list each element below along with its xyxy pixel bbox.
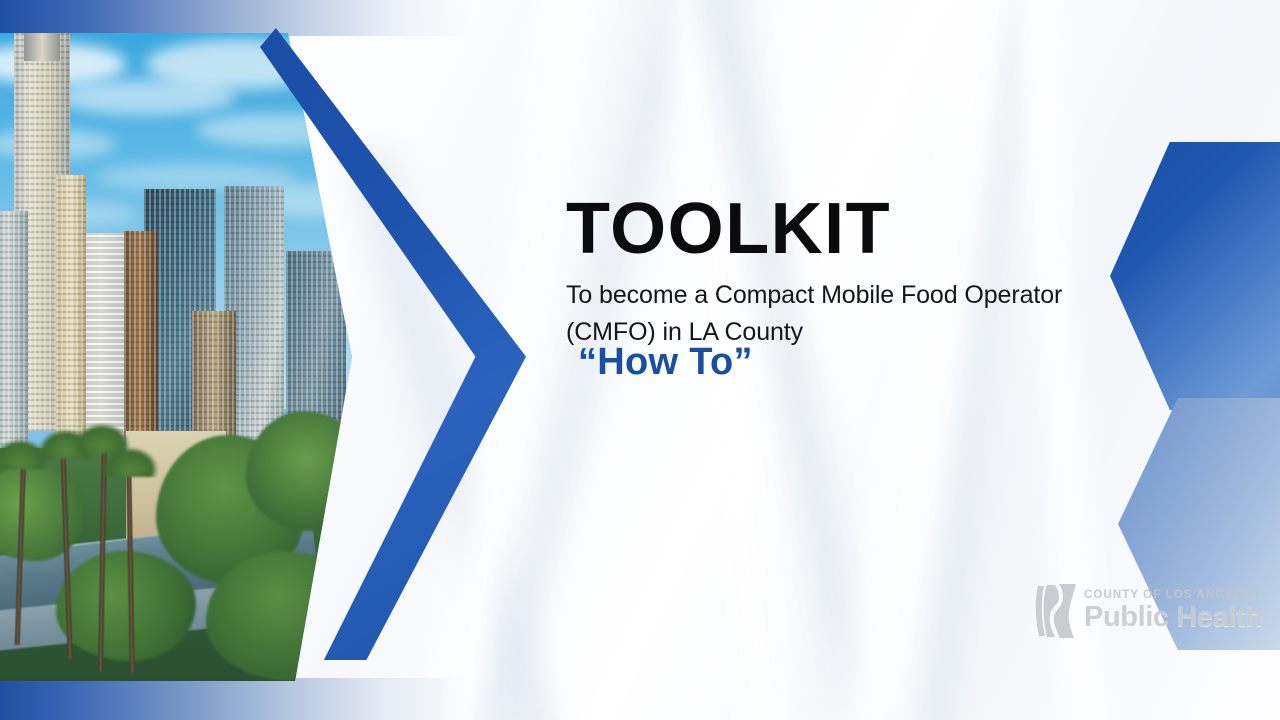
top-accent-band [0, 0, 470, 36]
logo-wordmark: County of Los Angeles Public Health [1084, 590, 1263, 633]
slide-subtitle: To become a Compact Mobile Food Operator… [566, 277, 1066, 351]
bottom-accent-band [0, 678, 470, 720]
logo-county-line: County of Los Angeles [1084, 590, 1263, 602]
page-title: TOOLKIT [566, 193, 1106, 265]
accent-phrase: “How To” [578, 341, 753, 384]
skyline-photo-image [0, 33, 352, 681]
public-health-logo: County of Los Angeles Public Health [1034, 580, 1262, 642]
slide-text-block: TOOLKIT To become a Compact Mobile Food … [566, 193, 1106, 351]
palm-fronds-4 [102, 447, 158, 477]
tree-4 [56, 551, 196, 661]
skyline-photo [0, 33, 352, 681]
building-crown-top [24, 33, 60, 61]
three-faces-profile-icon [1034, 582, 1078, 640]
logo-public-health-line: Public Health [1084, 603, 1263, 632]
slide-canvas: TOOLKIT To become a Compact Mobile Food … [0, 0, 1280, 720]
